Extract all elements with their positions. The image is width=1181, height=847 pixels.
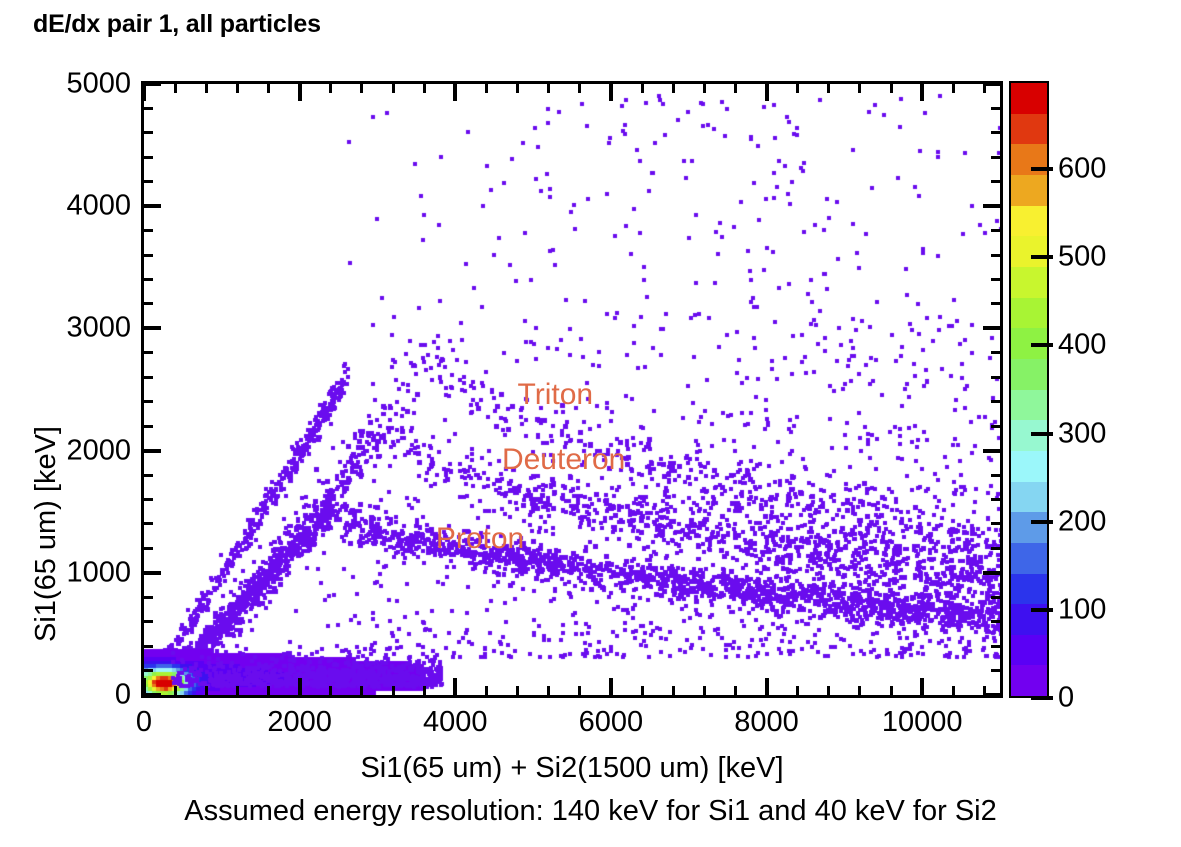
color-bar-tick-label: 400 <box>1058 329 1106 362</box>
tick-mark <box>641 686 644 695</box>
tick-mark <box>485 84 488 93</box>
tick-mark <box>267 84 270 93</box>
tick-mark <box>991 498 1000 501</box>
tick-mark <box>858 84 861 93</box>
figure-caption: Assumed energy resolution: 140 keV for S… <box>0 795 1181 828</box>
tick-mark <box>144 693 161 697</box>
tick-mark <box>144 620 153 623</box>
tick-mark <box>144 376 153 379</box>
x-tick-label: 6000 <box>579 706 644 739</box>
tick-mark <box>672 84 675 93</box>
tick-mark <box>547 84 550 93</box>
tick-mark <box>991 522 1000 525</box>
tick-mark <box>453 84 457 101</box>
tick-mark <box>827 84 830 93</box>
tick-mark <box>991 620 1000 623</box>
y-tick-label: 4000 <box>66 190 131 223</box>
tick-mark <box>360 686 363 695</box>
tick-mark <box>144 156 153 159</box>
tick-mark <box>144 522 153 525</box>
tick-mark <box>765 84 769 101</box>
tick-mark <box>578 686 581 695</box>
tick-mark <box>734 686 737 695</box>
color-bar-tick <box>1031 343 1053 347</box>
tick-mark <box>423 686 426 695</box>
tick-mark <box>174 84 177 93</box>
tick-mark <box>236 686 239 695</box>
color-bar-tick-label: 600 <box>1058 153 1106 186</box>
tick-mark <box>142 678 146 695</box>
particle-label-triton: Triton <box>518 378 594 412</box>
tick-mark <box>578 84 581 93</box>
tick-mark <box>329 84 332 93</box>
tick-mark <box>516 84 519 93</box>
particle-label-proton: Proton <box>436 522 524 556</box>
tick-mark <box>144 302 153 305</box>
tick-mark <box>609 84 613 101</box>
tick-mark <box>991 474 1000 477</box>
tick-mark <box>991 131 1000 134</box>
tick-mark <box>991 278 1000 281</box>
color-bar-tick-label: 200 <box>1058 505 1106 538</box>
tick-mark <box>174 686 177 695</box>
tick-mark <box>547 686 550 695</box>
tick-mark <box>983 204 1000 208</box>
color-bar-tick-label: 100 <box>1058 593 1106 626</box>
color-bar-tick <box>1031 696 1053 700</box>
tick-mark <box>144 425 153 428</box>
tick-mark <box>991 254 1000 257</box>
x-tick-label: 8000 <box>734 706 799 739</box>
tick-mark <box>205 84 208 93</box>
tick-mark <box>144 571 161 575</box>
tick-mark <box>890 686 893 695</box>
tick-mark <box>991 425 1000 428</box>
tick-mark <box>516 686 519 695</box>
y-tick-label: 1000 <box>66 556 131 589</box>
tick-mark <box>298 678 302 695</box>
tick-mark <box>991 302 1000 305</box>
color-bar-tick <box>1031 520 1053 524</box>
tick-mark <box>890 84 893 93</box>
tick-mark <box>991 107 1000 110</box>
tick-mark <box>423 84 426 93</box>
tick-mark <box>144 180 153 183</box>
x-tick-label: 10000 <box>882 706 963 739</box>
tick-mark <box>329 686 332 695</box>
tick-mark <box>983 449 1000 453</box>
tick-mark <box>144 107 153 110</box>
color-bar-tick-label: 500 <box>1058 241 1106 274</box>
x-tick-label: 2000 <box>267 706 332 739</box>
tick-mark <box>991 547 1000 550</box>
tick-mark <box>360 84 363 93</box>
x-tick-label: 0 <box>136 706 152 739</box>
tick-mark <box>983 686 986 695</box>
tick-mark <box>827 686 830 695</box>
y-tick-label: 2000 <box>66 434 131 467</box>
tick-mark <box>205 686 208 695</box>
tick-mark <box>920 678 924 695</box>
tick-mark <box>144 229 153 232</box>
tick-mark <box>144 474 153 477</box>
tick-mark <box>796 686 799 695</box>
color-bar-tick-label: 300 <box>1058 417 1106 450</box>
color-bar-tick-marks <box>1009 81 1053 698</box>
tick-mark <box>144 351 153 354</box>
tick-mark <box>991 400 1000 403</box>
tick-mark <box>142 84 146 101</box>
tick-mark <box>144 254 153 257</box>
tick-mark <box>991 376 1000 379</box>
tick-mark <box>144 131 153 134</box>
color-bar-tick <box>1031 432 1053 436</box>
tick-mark <box>991 156 1000 159</box>
tick-mark <box>991 596 1000 599</box>
color-bar-tick <box>1031 255 1053 259</box>
tick-mark <box>983 84 986 93</box>
color-bar-tick-labels: 0100200300400500600 <box>1058 81 1178 698</box>
tick-mark <box>144 669 153 672</box>
tick-mark <box>144 449 161 453</box>
tick-mark <box>144 278 153 281</box>
tick-mark <box>267 686 270 695</box>
tick-mark <box>144 400 153 403</box>
tick-mark <box>144 498 153 501</box>
tick-mark <box>144 596 153 599</box>
tick-mark <box>144 547 153 550</box>
tick-mark <box>952 84 955 93</box>
color-bar-tick-label: 0 <box>1058 682 1074 715</box>
tick-mark <box>991 180 1000 183</box>
tick-mark <box>144 82 161 86</box>
tick-mark <box>952 686 955 695</box>
tick-mark <box>144 645 153 648</box>
tick-mark <box>991 351 1000 354</box>
particle-label-deuteron: Deuteron <box>502 443 625 477</box>
tick-mark <box>991 645 1000 648</box>
y-tick-label: 5000 <box>66 68 131 101</box>
x-axis-title: Si1(65 um) + Si2(1500 um) [keV] <box>141 752 1003 785</box>
color-bar-tick <box>1031 167 1053 171</box>
tick-mark <box>983 571 1000 575</box>
tick-mark <box>703 686 706 695</box>
tick-mark <box>672 686 675 695</box>
tick-mark <box>991 669 1000 672</box>
tick-mark <box>703 84 706 93</box>
tick-mark <box>983 326 1000 330</box>
tick-mark <box>485 686 488 695</box>
tick-mark <box>991 229 1000 232</box>
x-tick-label: 4000 <box>423 706 488 739</box>
tick-mark <box>453 678 457 695</box>
tick-mark <box>392 84 395 93</box>
tick-mark <box>796 84 799 93</box>
tick-mark <box>298 84 302 101</box>
tick-mark <box>734 84 737 93</box>
y-tick-label: 3000 <box>66 312 131 345</box>
tick-mark <box>236 84 239 93</box>
x-axis-tick-labels: 0200040006000800010000 <box>0 706 1181 746</box>
tick-mark <box>641 84 644 93</box>
tick-mark <box>765 678 769 695</box>
tick-mark <box>392 686 395 695</box>
color-bar-tick <box>1031 608 1053 612</box>
tick-mark <box>609 678 613 695</box>
tick-mark <box>858 686 861 695</box>
tick-mark <box>144 326 161 330</box>
tick-mark <box>920 84 924 101</box>
tick-mark <box>144 204 161 208</box>
